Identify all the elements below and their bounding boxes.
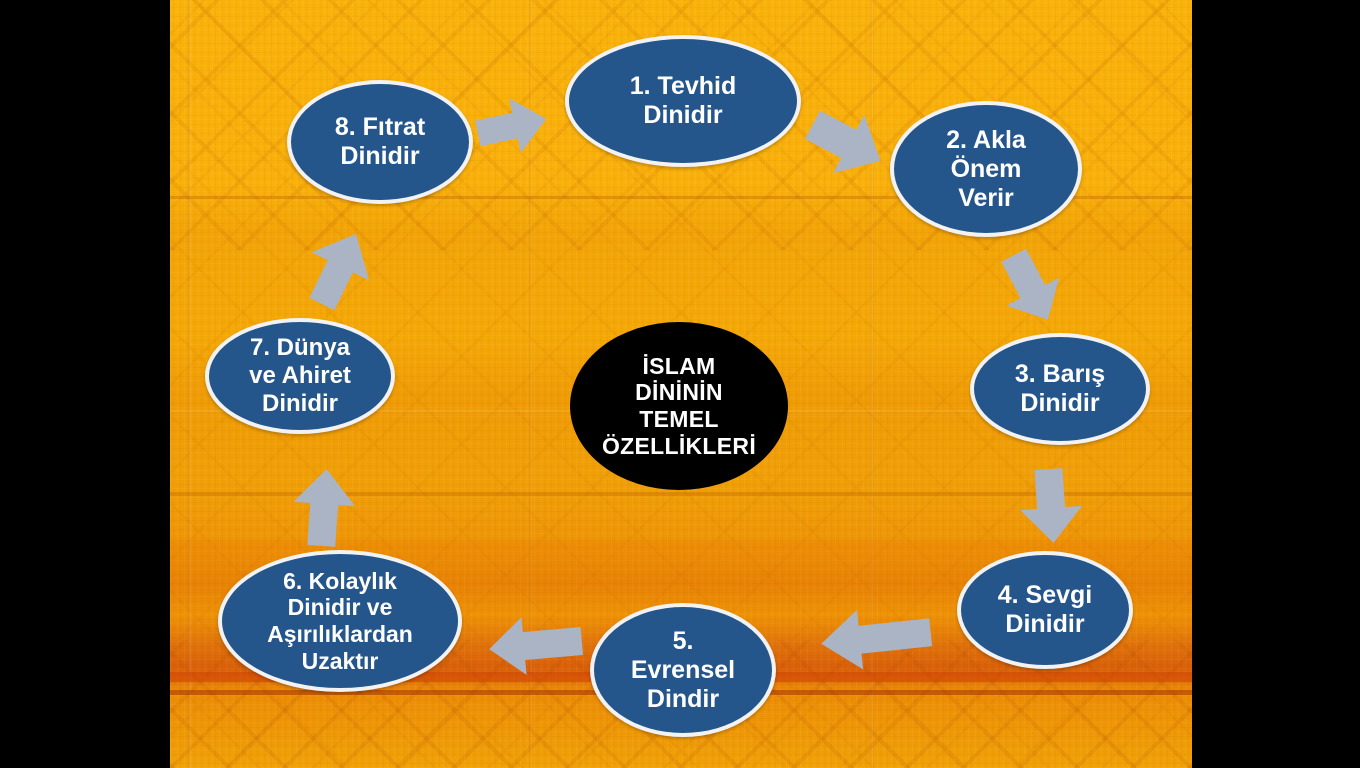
arrow-8-to-1: [475, 93, 551, 159]
node-2-line-3: Verir: [940, 184, 1032, 213]
node-6-line-1: 6. Kolaylık: [261, 568, 419, 595]
center-node-line-1: İSLAM: [596, 353, 762, 380]
node-2-akla-onem-verir[interactable]: 2. Akla Önem Verir: [890, 101, 1082, 237]
node-6-line-4: Uzaktır: [261, 648, 419, 675]
arrow-6-to-7: [288, 465, 360, 550]
slide-canvas: İSLAM DİNİNİN TEMEL ÖZELLİKLERİ 1. Tevhi…: [0, 0, 1360, 768]
node-8-line-1: 8. Fıtrat: [329, 113, 431, 142]
node-5-line-3: Dindir: [625, 685, 741, 714]
arrow-5-to-6: [486, 612, 586, 678]
node-3-line-1: 3. Barış: [1009, 360, 1111, 389]
node-7-line-3: Dinidir: [243, 390, 357, 418]
center-node-line-4: ÖZELLİKLERİ: [596, 433, 762, 460]
node-6-kolaylik[interactable]: 6. Kolaylık Dinidir ve Aşırılıklardan Uz…: [218, 550, 462, 692]
arrow-7-to-8: [302, 226, 376, 312]
node-1-line-1: 1. Tevhid: [624, 72, 743, 101]
letterbox-left: [0, 0, 170, 768]
arrow-1-to-2: [805, 106, 889, 180]
center-node-line-3: TEMEL: [596, 406, 762, 433]
node-6-line-3: Aşırılıklardan: [261, 621, 419, 648]
node-5-line-2: Evrensel: [625, 656, 741, 685]
node-2-line-2: Önem: [940, 155, 1032, 184]
node-4-line-2: Dinidir: [992, 610, 1099, 639]
node-4-sevgi[interactable]: 4. Sevgi Dinidir: [957, 551, 1133, 669]
node-3-baris[interactable]: 3. Barış Dinidir: [970, 333, 1150, 445]
node-4-line-1: 4. Sevgi: [992, 581, 1099, 610]
node-2-line-1: 2. Akla: [940, 126, 1032, 155]
node-6-line-2: Dinidir ve: [261, 594, 419, 621]
node-1-line-2: Dinidir: [624, 101, 743, 130]
node-8-line-2: Dinidir: [329, 142, 431, 171]
node-1-tevhid[interactable]: 1. Tevhid Dinidir: [565, 35, 801, 167]
letterbox-right: [1192, 0, 1360, 768]
arrow-4-to-5: [818, 604, 934, 672]
node-7-line-1: 7. Dünya: [243, 334, 357, 362]
node-7-line-2: ve Ahiret: [243, 362, 357, 390]
node-8-fitrat[interactable]: 8. Fıtrat Dinidir: [287, 80, 473, 204]
center-node-line-2: DİNİNİN: [596, 379, 762, 406]
node-3-line-2: Dinidir: [1009, 389, 1111, 418]
node-5-line-1: 5.: [625, 627, 741, 656]
center-node: İSLAM DİNİNİN TEMEL ÖZELLİKLERİ: [570, 322, 788, 490]
arrow-3-to-4: [1015, 466, 1087, 546]
node-7-dunya-ahiret[interactable]: 7. Dünya ve Ahiret Dinidir: [205, 318, 395, 434]
arrow-2-to-3: [996, 248, 1066, 328]
slide-background: İSLAM DİNİNİN TEMEL ÖZELLİKLERİ 1. Tevhi…: [170, 0, 1192, 768]
node-5-evrensel[interactable]: 5. Evrensel Dindir: [590, 603, 776, 737]
